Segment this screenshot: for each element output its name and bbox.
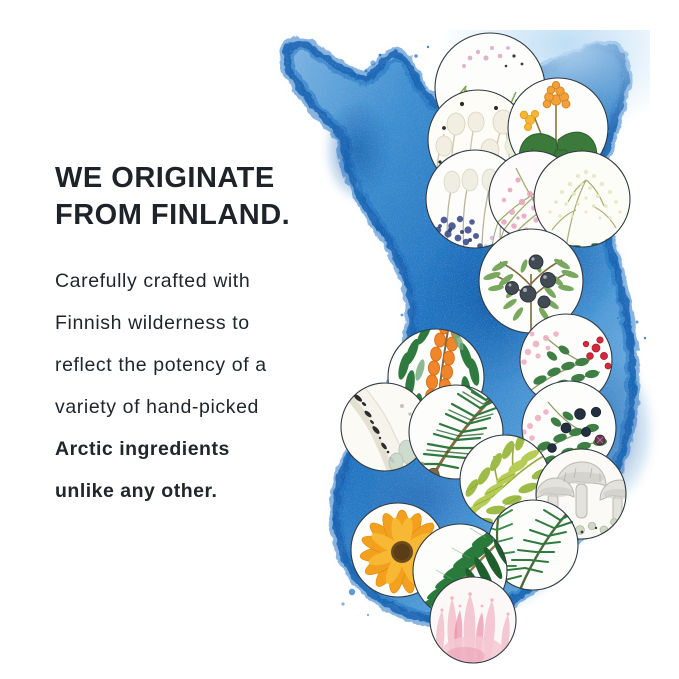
body-line-6: unlike any other. [55, 470, 355, 512]
headline-line-1: WE ORIGINATE [55, 160, 355, 197]
copy-block: WE ORIGINATE FROM FINLAND. Carefully cra… [55, 160, 355, 512]
headline-line-2: FROM FINLAND. [55, 197, 355, 234]
body-line-4: variety of hand-picked [55, 386, 355, 428]
body-line-2: Finnish wilderness to [55, 302, 355, 344]
circle-pink-grass [430, 577, 516, 665]
body-line-1: Carefully crafted with [55, 260, 355, 302]
body-line-3: reflect the potency of a [55, 344, 355, 386]
body-line-5: Arctic ingredients [55, 428, 355, 470]
body-paragraph: Carefully crafted withFinnish wilderness… [55, 260, 355, 512]
page-title: WE ORIGINATE FROM FINLAND. [55, 160, 355, 234]
poster-canvas: WE ORIGINATE FROM FINLAND. Carefully cra… [0, 0, 679, 679]
